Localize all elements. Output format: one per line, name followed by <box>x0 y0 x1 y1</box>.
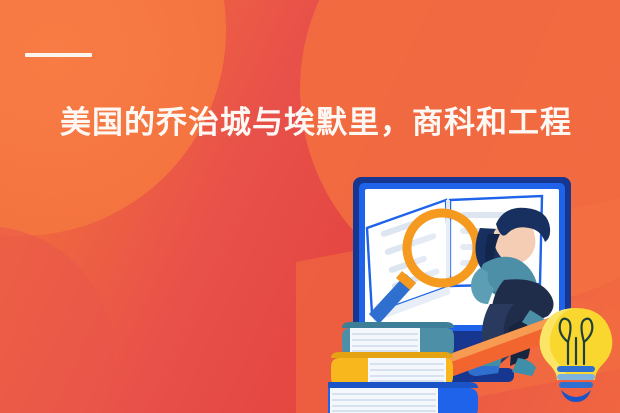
online-learning-illustration <box>328 168 620 413</box>
lightbulb-icon <box>540 308 613 402</box>
page-title: 美国的乔治城与埃默里，商科和工程 <box>60 101 600 145</box>
accent-rule <box>25 53 92 57</box>
poster-canvas: 美国的乔治城与埃默里，商科和工程 <box>0 0 620 413</box>
